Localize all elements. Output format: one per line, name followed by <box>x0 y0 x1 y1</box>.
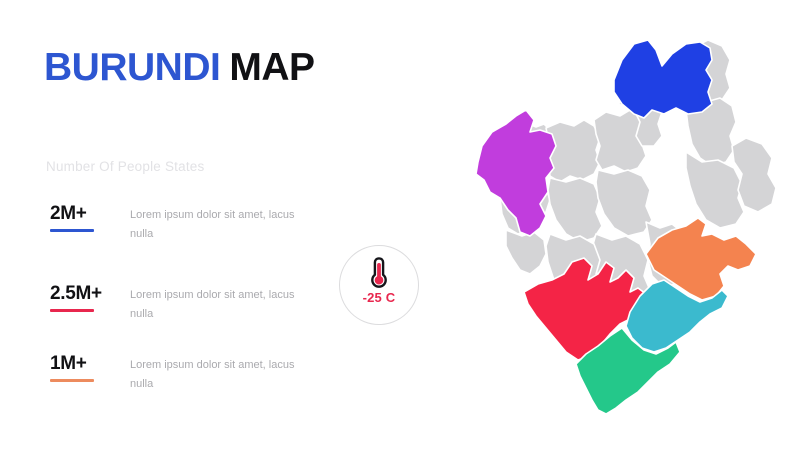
stat-description: Lorem ipsum dolor sit amet, lacus nulla <box>130 286 310 324</box>
stat-accent-rule <box>50 379 94 382</box>
province-gray-central-e[interactable] <box>596 170 652 236</box>
temperature-badge[interactable]: -25 C <box>339 245 419 325</box>
province-gray-west-2[interactable] <box>506 230 546 274</box>
page-title-primary: BURUNDI <box>44 46 220 89</box>
stats-section-subtitle: Number Of People States <box>46 159 204 174</box>
stat-accent-rule <box>50 309 94 312</box>
stat-description: Lorem ipsum dolor sit amet, lacus nulla <box>130 356 310 394</box>
stat-item-2[interactable]: 1M+ Lorem ipsum dolor sit amet, lacus nu… <box>46 353 336 411</box>
stat-value: 2.5M+ <box>50 283 102 305</box>
stat-item-1[interactable]: 2.5M+ Lorem ipsum dolor sit amet, lacus … <box>46 283 336 341</box>
stat-value: 2M+ <box>50 203 87 225</box>
stat-item-0[interactable]: 2M+ Lorem ipsum dolor sit amet, lacus nu… <box>46 203 336 261</box>
page-title: BURUNDIMAP <box>44 48 315 87</box>
page-title-secondary: MAP <box>229 46 314 89</box>
province-gray-central-mid[interactable] <box>548 178 602 242</box>
region-north[interactable] <box>614 40 712 118</box>
temperature-value: -25 C <box>340 290 418 305</box>
burundi-map[interactable] <box>450 34 798 426</box>
stat-accent-rule <box>50 229 94 232</box>
stat-description: Lorem ipsum dolor sit amet, lacus nulla <box>130 206 310 244</box>
stat-value: 1M+ <box>50 353 87 375</box>
